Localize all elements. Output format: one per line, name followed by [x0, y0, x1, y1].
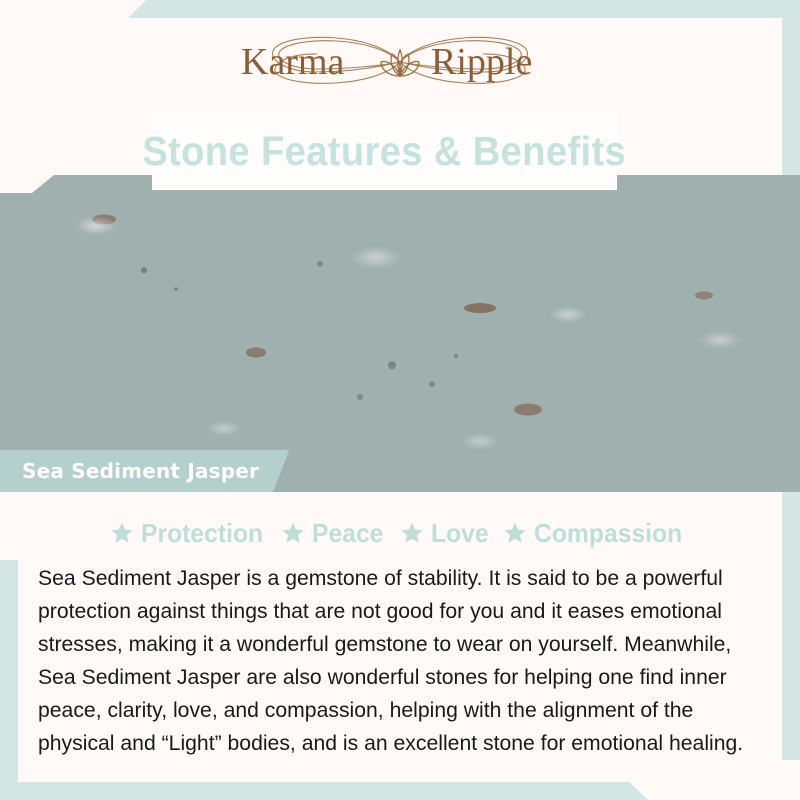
photo-caption-label: Sea Sediment Jasper: [22, 459, 259, 483]
infographic-page: Karma Ripple Stone Features & Benefits S…: [0, 0, 800, 800]
brand-logo: Karma Ripple: [0, 22, 800, 102]
feature-item-protection: Protection: [110, 518, 270, 549]
feature-label-compassion: Compassion: [534, 518, 682, 549]
photo-caption: Sea Sediment Jasper: [0, 450, 289, 492]
brand-word-left: Karma: [241, 41, 345, 83]
star-icon: [110, 521, 134, 545]
stone-photo-veins: [0, 175, 800, 492]
feature-label-peace: Peace: [312, 518, 383, 549]
feature-label-love: Love: [431, 518, 489, 549]
page-title: Stone Features & Benefits: [143, 128, 627, 175]
star-icon: [400, 521, 424, 545]
feature-label-protection: Protection: [141, 518, 263, 549]
description-paragraph: Sea Sediment Jasper is a gemstone of sta…: [38, 562, 751, 760]
page-title-banner: Stone Features & Benefits: [152, 112, 617, 190]
star-icon: [503, 521, 527, 545]
feature-item-love: Love: [400, 518, 492, 549]
karma-ripple-logo-svg: Karma Ripple: [235, 26, 565, 98]
stone-photo: Sea Sediment Jasper: [0, 175, 800, 492]
feature-list: Protection Peace Love Compassion: [18, 512, 782, 554]
star-icon: [281, 521, 305, 545]
feature-item-peace: Peace: [281, 518, 387, 549]
feature-item-compassion: Compassion: [503, 518, 690, 549]
brand-word-right: Ripple: [431, 41, 532, 83]
